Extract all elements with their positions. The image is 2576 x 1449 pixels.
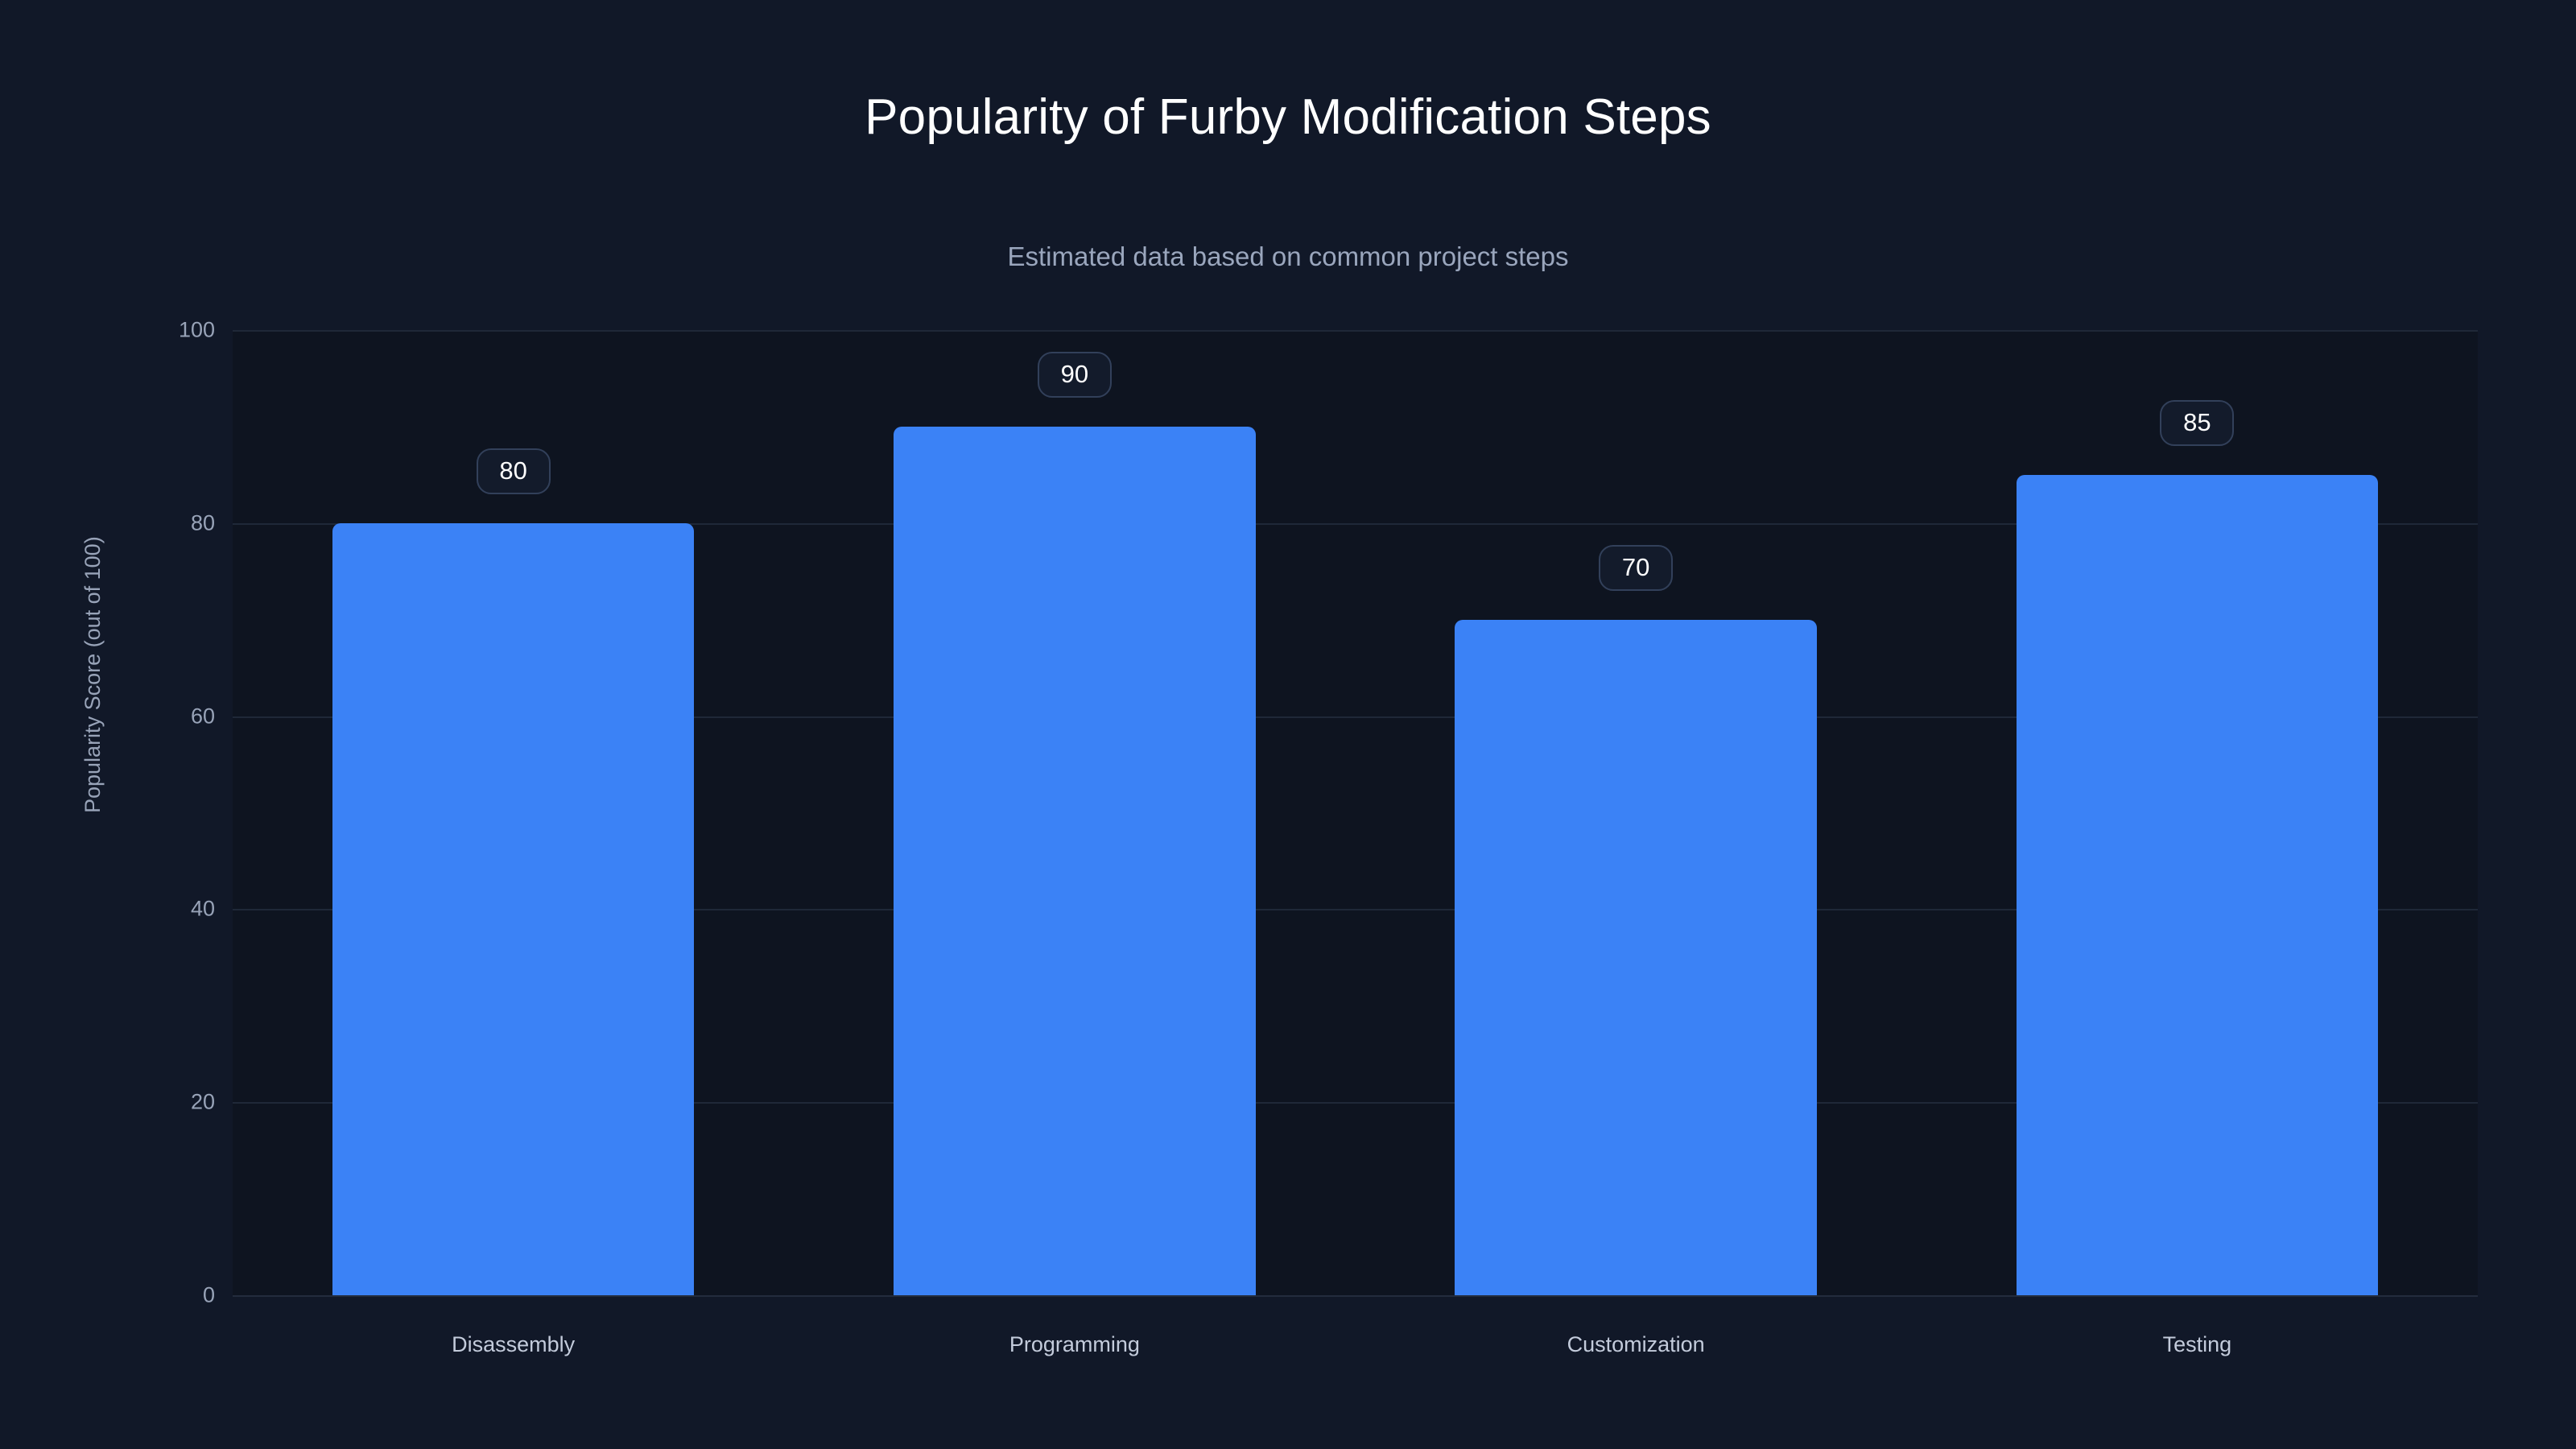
bar[interactable]	[894, 427, 1256, 1295]
bar[interactable]	[332, 523, 695, 1295]
bar-chart: Popularity of Furby Modification Steps E…	[0, 0, 2576, 1449]
x-axis-baseline	[233, 1295, 2478, 1297]
bar-value-badge: 85	[2160, 400, 2234, 446]
bar-slot[interactable]: 85	[2017, 330, 2379, 1295]
bar-slot[interactable]: 70	[1455, 330, 1817, 1295]
y-axis-title: Popularity Score (out of 100)	[80, 536, 105, 813]
bar-value-badge: 80	[477, 448, 551, 494]
plot-area: 80907085	[233, 330, 2478, 1295]
y-axis-tick-label: 80	[54, 510, 215, 535]
x-axis-tick-label: Customization	[1567, 1332, 1705, 1357]
y-axis-tick-label: 20	[54, 1090, 215, 1115]
y-axis-tick-label: 60	[54, 704, 215, 729]
y-axis-tick-label: 100	[54, 318, 215, 343]
y-axis-tick-label: 40	[54, 897, 215, 922]
bar-value-badge: 90	[1038, 352, 1112, 398]
bar-slot[interactable]: 90	[894, 330, 1256, 1295]
bar-value-badge: 70	[1599, 545, 1673, 591]
y-axis-tick-label: 0	[54, 1283, 215, 1308]
bar[interactable]	[1455, 620, 1817, 1295]
x-axis-tick-label: Testing	[2163, 1332, 2232, 1357]
chart-subtitle: Estimated data based on common project s…	[0, 242, 2576, 272]
bar-slot[interactable]: 80	[332, 330, 695, 1295]
chart-title: Popularity of Furby Modification Steps	[0, 89, 2576, 146]
x-axis-tick-label: Disassembly	[452, 1332, 575, 1357]
bar[interactable]	[2017, 475, 2379, 1295]
x-axis-tick-label: Programming	[1009, 1332, 1140, 1357]
